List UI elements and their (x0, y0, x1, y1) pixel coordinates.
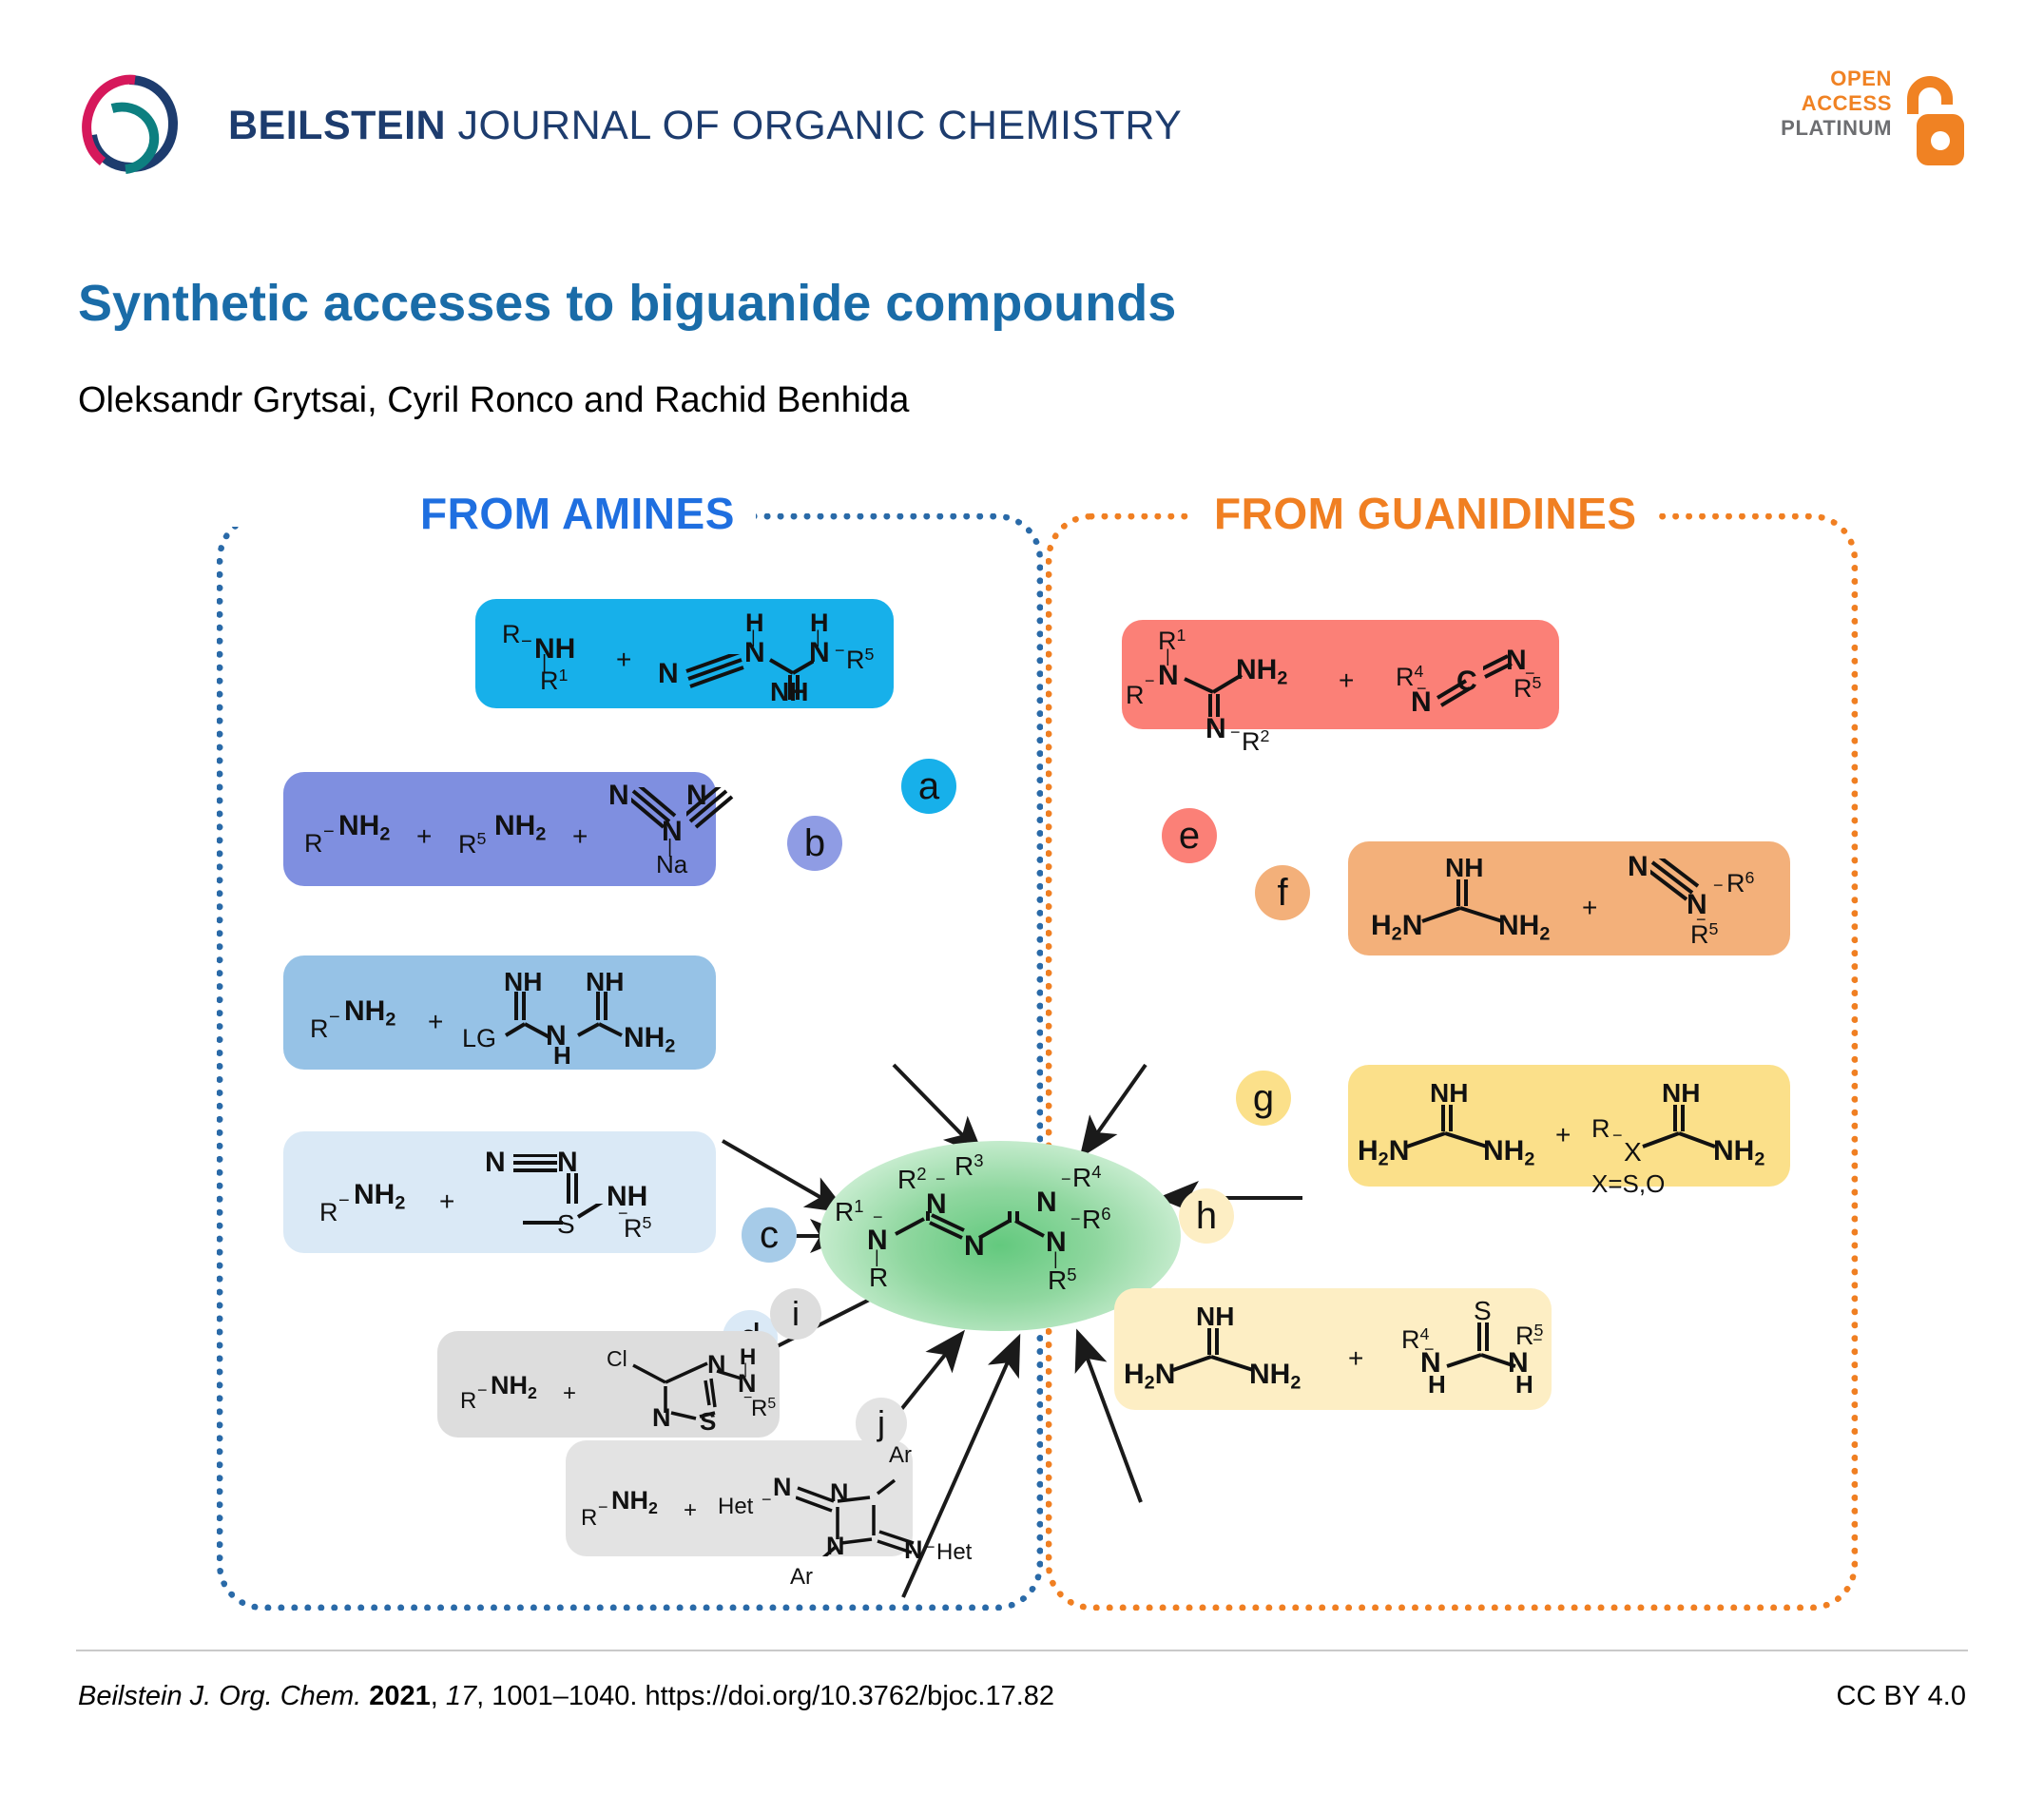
reaction-box-i[interactable]: R − NH2 + Cl N N S H | N − R5 (437, 1331, 780, 1438)
page-header: BEILSTEIN JOURNAL OF ORGANIC CHEMISTRY O… (0, 0, 2044, 190)
reaction-badge-j[interactable]: j (856, 1398, 907, 1449)
open-padlock-icon (1898, 70, 1970, 169)
footer-divider (76, 1650, 1968, 1651)
oa-line-platinum: PLATINUM (1781, 116, 1892, 141)
reaction-box-e[interactable]: R1 | N R − NH2 N − R2 + R4 − N C N − R5 (1122, 620, 1559, 729)
reaction-box-a[interactable]: R − NH | R1 + N H | N NH H | N − R5 (475, 599, 894, 708)
reaction-badge-h[interactable]: h (1179, 1188, 1234, 1244)
open-access-labels: OPEN ACCESS PLATINUM (1781, 67, 1892, 141)
reaction-box-g[interactable]: NH H2N NH2 + R − X NH NH2 X=S,O (1348, 1065, 1790, 1187)
citation-year: 2021 (369, 1681, 431, 1711)
oa-line-access: ACCESS (1781, 91, 1892, 116)
reaction-box-f[interactable]: NH H2N NH2 + N N − R6 − R5 (1348, 841, 1790, 955)
oa-line-open: OPEN (1781, 67, 1892, 91)
open-access-badge: OPEN ACCESS PLATINUM (1780, 67, 1970, 176)
beilstein-logo-icon (74, 74, 188, 174)
reaction-badge-c[interactable]: c (742, 1207, 797, 1263)
page-title: Synthetic accesses to biguanide compound… (78, 274, 1176, 333)
citation-doi[interactable]: https://doi.org/10.3762/bjoc.17.82 (646, 1681, 1054, 1711)
reaction-note-g: X=S,O (1591, 1169, 1665, 1199)
graphical-abstract: FROM AMINES FROM GUANIDINES R − NH | R1 … (0, 475, 2044, 1607)
citation-pages: 1001–1040. (492, 1681, 637, 1711)
journal-name-bold: BEILSTEIN (228, 103, 446, 148)
reaction-badge-a[interactable]: a (901, 759, 956, 814)
reaction-badge-g[interactable]: g (1236, 1071, 1291, 1126)
reaction-box-j[interactable]: R − NH2 + Het − N N N Ar Ar N − Het (566, 1440, 913, 1556)
panel-label-guanidines: FROM GUANIDINES (1193, 488, 1658, 539)
reaction-box-b[interactable]: R − NH2 + R5 NH2 + N N N | Na (283, 772, 716, 886)
journal-name: BEILSTEIN JOURNAL OF ORGANIC CHEMISTRY (228, 103, 1182, 149)
reaction-badge-b[interactable]: b (787, 816, 842, 871)
license-label: CC BY 4.0 (1837, 1681, 1966, 1712)
reaction-box-h[interactable]: NH H2N NH2 + R4 − N H S N H − R5 (1114, 1288, 1552, 1410)
reaction-badge-e[interactable]: e (1162, 808, 1217, 863)
citation-journal: Beilstein J. Org. Chem. (78, 1681, 361, 1711)
journal-name-rest: JOURNAL OF ORGANIC CHEMISTRY (458, 103, 1183, 148)
panel-label-amines: FROM AMINES (399, 488, 756, 539)
citation: Beilstein J. Org. Chem. 2021, 17, 1001–1… (78, 1681, 1054, 1712)
reaction-box-c[interactable]: R − NH2 + NH LG N H NH NH2 (283, 955, 716, 1070)
citation-volume: 17 (446, 1681, 476, 1711)
reaction-box-d[interactable]: R − NH2 + N N S NH − R5 (283, 1131, 716, 1253)
author-list: Oleksandr Grytsai, Cyril Ronco and Rachi… (78, 380, 909, 421)
reaction-badge-f[interactable]: f (1255, 865, 1310, 920)
reaction-badge-i[interactable]: i (770, 1288, 821, 1340)
